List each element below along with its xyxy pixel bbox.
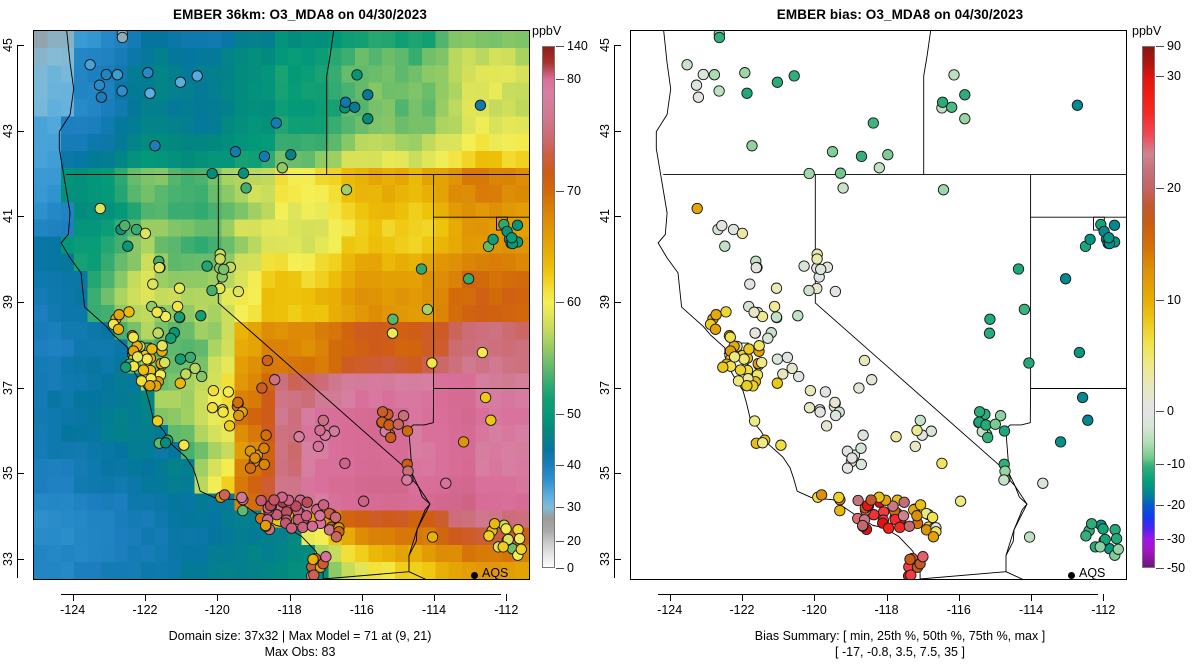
colorbar-gradient-bias — [1142, 46, 1155, 568]
colorbar-tick-mark — [556, 414, 564, 415]
colorbar-tick-mark — [1156, 76, 1164, 77]
y-tick-mark — [17, 559, 24, 560]
colorbar-tick-mark — [556, 507, 564, 508]
y-tick-mark — [614, 473, 621, 474]
x-tick-label: -116 — [350, 603, 374, 617]
colorbar-tick-mark — [1156, 568, 1164, 569]
panel-bias: EMBER bias: O3_MDA8 on 04/30/2023 -124-1… — [600, 0, 1200, 672]
map-frame-model — [33, 30, 530, 580]
x-tick-mark — [887, 594, 888, 601]
caption-line1-bias: Bias Summary: [ min, 25th %, 50th %, 75t… — [600, 628, 1200, 644]
colorbar-tick-mark — [1156, 539, 1164, 540]
colorbar-tick-label: 20 — [567, 534, 581, 548]
y-tick-mark — [17, 388, 24, 389]
colorbar-tick-label: 0 — [1167, 404, 1174, 418]
x-tick-mark — [362, 594, 363, 601]
colorbar-tick-label: 20 — [1167, 181, 1181, 195]
colorbar-tick-mark — [1156, 464, 1164, 465]
y-tick-mark — [17, 45, 24, 46]
y-tick-label: 45 — [1, 34, 15, 56]
x-tick-label: -120 — [802, 603, 827, 617]
colorbar-tick-mark — [556, 568, 564, 569]
caption-line2-model: Max Obs: 83 — [0, 644, 600, 660]
x-tick-label: -122 — [729, 603, 754, 617]
x-tick-label: -122 — [132, 603, 157, 617]
x-tick-label: -124 — [657, 603, 682, 617]
y-tick-label: 33 — [1, 548, 15, 570]
y-tick-label: 39 — [1, 291, 15, 313]
colorbar-tick-label: -20 — [1167, 498, 1185, 512]
colorbar-tick-label: 30 — [567, 500, 581, 514]
colorbar-tick-mark — [1156, 46, 1164, 47]
panel-model: EMBER 36km: O3_MDA8 on 04/30/2023 -124-1… — [0, 0, 600, 672]
colorbar-tick-mark — [556, 191, 564, 192]
y-tick-label: 39 — [598, 291, 612, 313]
colorbar-tick-mark — [556, 79, 564, 80]
colorbar-tick-mark — [556, 302, 564, 303]
colorbar-tick-label: -10 — [1167, 457, 1185, 471]
y-axis-line-bias — [614, 45, 615, 578]
colorbar-tick-label: -30 — [1167, 532, 1185, 546]
x-tick-mark — [814, 594, 815, 601]
colorbar-tick-label: 140 — [567, 39, 588, 53]
y-tick-label: 37 — [1, 377, 15, 399]
y-axis-line-model — [17, 45, 18, 578]
y-tick-label: 43 — [1, 120, 15, 142]
colorbar-tick-mark — [556, 465, 564, 466]
x-tick-label: -114 — [422, 603, 446, 617]
x-tick-mark — [1031, 594, 1032, 601]
colorbar-tick-mark — [1156, 300, 1164, 301]
x-tick-label: -114 — [1019, 603, 1043, 617]
y-tick-label: 33 — [598, 548, 612, 570]
colorbar-unit-label-bias: ppbV — [1132, 24, 1161, 38]
x-tick-label: -116 — [947, 603, 971, 617]
x-tick-mark — [145, 594, 146, 601]
colorbar-tick-mark — [1156, 505, 1164, 506]
map-frame-bias — [630, 30, 1127, 580]
colorbar-tick-label: -50 — [1167, 561, 1185, 575]
aqs-station-markers — [682, 31, 1124, 579]
y-tick-mark — [17, 302, 24, 303]
map-canvas-model — [34, 31, 529, 579]
caption-line2-bias: [ -17, -0.8, 3.5, 7.5, 35 ] — [600, 644, 1200, 660]
x-tick-mark — [217, 594, 218, 601]
y-tick-mark — [17, 216, 24, 217]
colorbar-tick-label: 40 — [567, 458, 581, 472]
x-tick-mark — [959, 594, 960, 601]
x-tick-mark — [1103, 594, 1104, 601]
y-tick-label: 43 — [598, 120, 612, 142]
x-tick-mark — [670, 594, 671, 601]
x-tick-mark — [742, 594, 743, 601]
colorbar-unit-label-model: ppbV — [532, 24, 561, 38]
x-tick-mark — [506, 594, 507, 601]
colorbar-tick-label: 90 — [1167, 39, 1181, 53]
aqs-marker-icon — [471, 572, 478, 579]
y-tick-label: 45 — [598, 34, 612, 56]
y-tick-mark — [614, 216, 621, 217]
colorbar-tick-label: 60 — [567, 295, 581, 309]
y-tick-label: 41 — [598, 205, 612, 227]
y-tick-mark — [17, 131, 24, 132]
aqs-marker-icon — [1068, 572, 1075, 579]
colorbar-tick-label: 10 — [1167, 293, 1181, 307]
x-tick-mark — [73, 594, 74, 601]
colorbar-tick-label: 30 — [1167, 69, 1181, 83]
map-borders — [656, 31, 1126, 579]
colorbar-tick-label: 70 — [567, 184, 581, 198]
x-tick-mark — [290, 594, 291, 601]
x-tick-label: -112 — [1091, 603, 1115, 617]
x-tick-label: -120 — [205, 603, 230, 617]
y-tick-label: 35 — [1, 462, 15, 484]
page-title-model: EMBER 36km: O3_MDA8 on 04/30/2023 — [0, 7, 600, 22]
aqs-legend-label: AQS — [482, 566, 508, 580]
y-tick-label: 41 — [1, 205, 15, 227]
x-tick-mark — [434, 594, 435, 601]
caption-line1-model: Domain size: 37x32 | Max Model = 71 at (… — [0, 628, 600, 644]
y-tick-mark — [17, 473, 24, 474]
colorbar-gradient-model — [542, 46, 555, 568]
colorbar-tick-mark — [556, 46, 564, 47]
x-tick-label: -118 — [277, 603, 301, 617]
y-tick-mark — [614, 388, 621, 389]
page-title-bias: EMBER bias: O3_MDA8 on 04/30/2023 — [600, 7, 1200, 22]
y-tick-mark — [614, 302, 621, 303]
x-tick-label: -124 — [60, 603, 85, 617]
y-tick-label: 35 — [598, 462, 612, 484]
x-tick-label: -118 — [874, 603, 898, 617]
colorbar-tick-label: 80 — [567, 72, 581, 86]
y-tick-mark — [614, 559, 621, 560]
colorbar-tick-label: 0 — [567, 561, 574, 575]
y-tick-label: 37 — [598, 377, 612, 399]
y-tick-mark — [614, 45, 621, 46]
x-tick-label: -112 — [494, 603, 518, 617]
colorbar-tick-label: 50 — [567, 407, 581, 421]
y-tick-mark — [614, 131, 621, 132]
colorbar-tick-mark — [1156, 188, 1164, 189]
colorbar-tick-mark — [556, 541, 564, 542]
map-canvas-bias — [631, 31, 1126, 579]
aqs-legend-label: AQS — [1079, 566, 1105, 580]
figure-root: EMBER 36km: O3_MDA8 on 04/30/2023 -124-1… — [0, 0, 1200, 672]
colorbar-tick-mark — [1156, 411, 1164, 412]
